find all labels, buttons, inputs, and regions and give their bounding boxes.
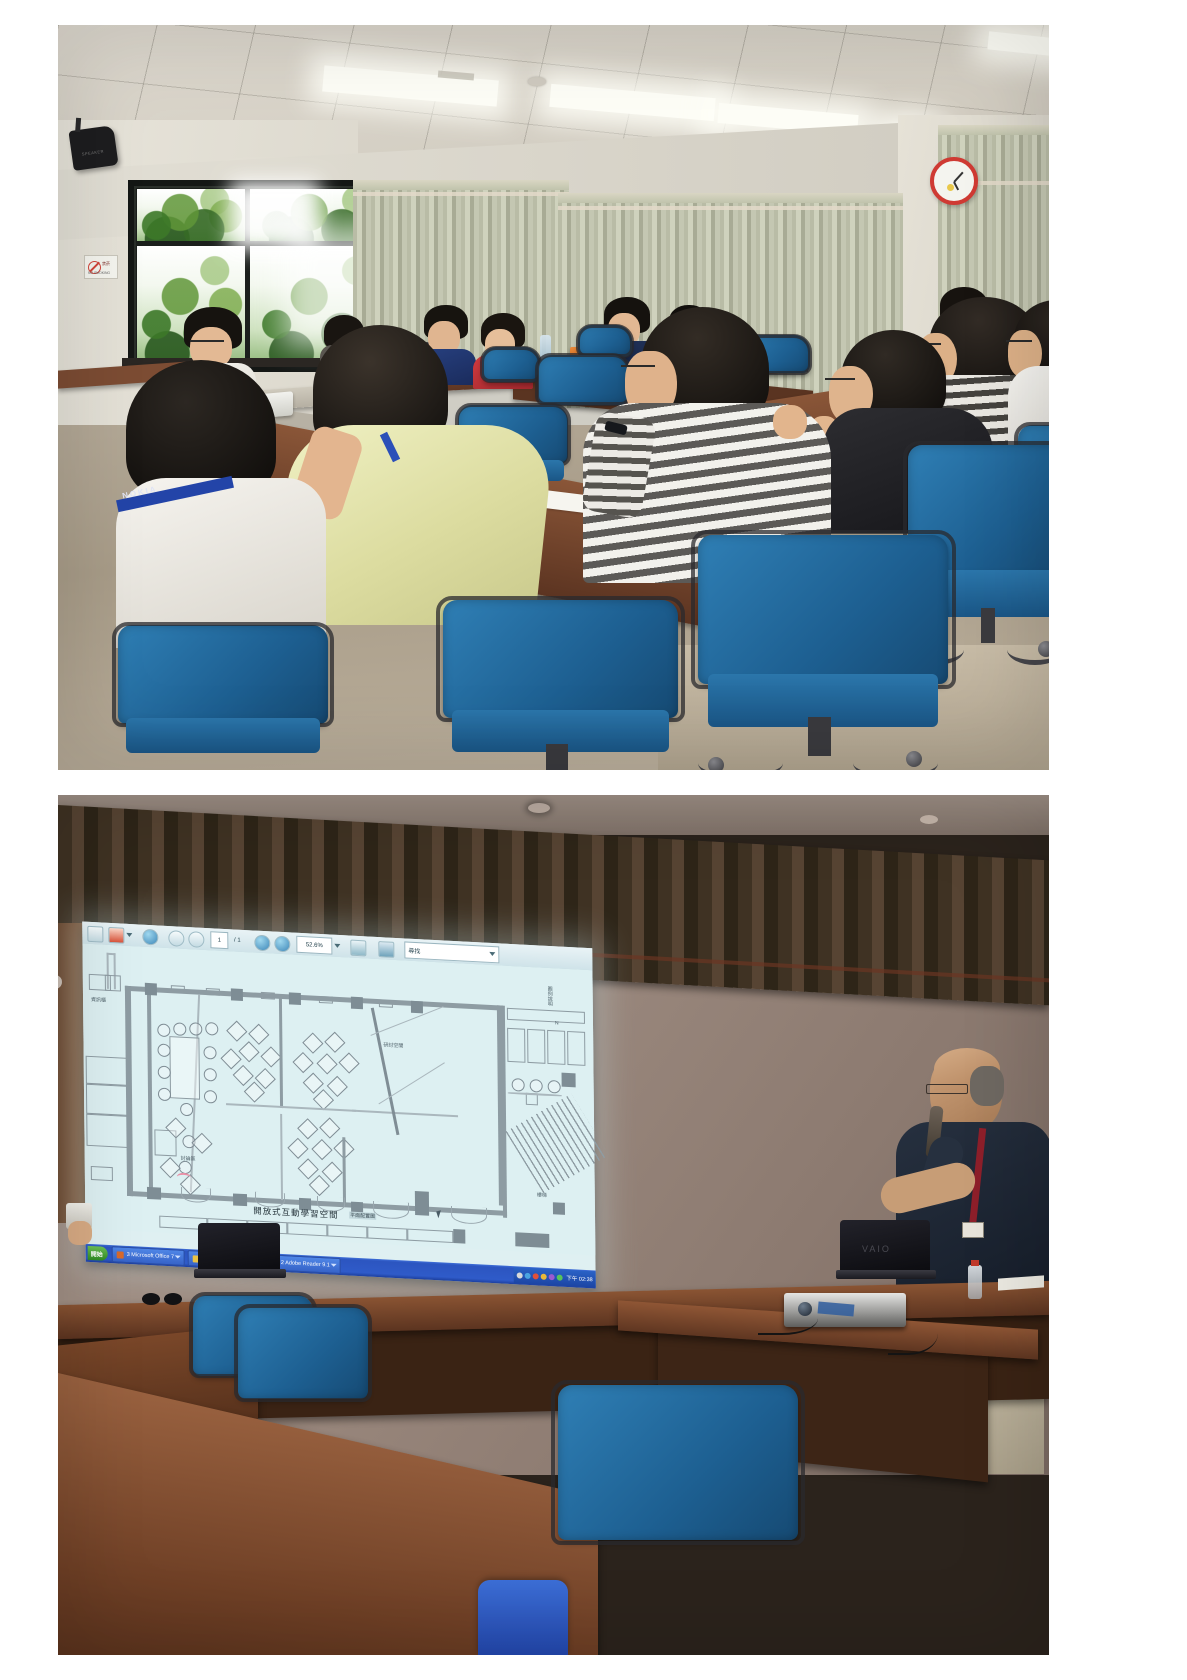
no-smoking-sign: 禁菸 NO SMOKING — [84, 255, 118, 279]
smoke-detector — [528, 77, 546, 86]
taskbar-item-label: 3 Microsoft Office 7 — [127, 1252, 174, 1260]
zoom-level-input[interactable]: 52.6% — [296, 936, 332, 955]
plan-title-note: 平面配置圖 — [349, 1212, 376, 1220]
update-icon[interactable] — [540, 1274, 546, 1280]
next-page-icon[interactable] — [188, 931, 204, 948]
person-foreground-back-of-head: NOKIA — [116, 360, 331, 660]
network-icon[interactable] — [524, 1273, 530, 1279]
hand — [773, 405, 807, 439]
fit-page-icon[interactable] — [350, 940, 366, 957]
name-badge — [962, 1222, 984, 1238]
presenter-with-projected-floorplan-photo: 1 / 1 52.6% 尋找 — [58, 795, 1049, 1655]
fit-width-icon[interactable] — [378, 941, 394, 958]
sign-sub-text: NO SMOKING — [88, 271, 110, 275]
office-chair — [118, 625, 328, 770]
email-icon[interactable] — [108, 927, 124, 944]
shield-icon[interactable] — [532, 1273, 538, 1279]
plan-legend-label: 圖例說明 — [547, 986, 554, 1006]
seminar-room-audience-photo: SPEAKER 禁菸 NO SMOKING — [58, 25, 1049, 770]
speaker-brand-label: SPEAKER — [81, 149, 104, 157]
zoom-in-icon[interactable] — [274, 936, 290, 953]
plan-label: 資訊櫃 — [91, 996, 106, 1004]
sign-main-text: 禁菸 — [102, 261, 110, 267]
eyeglasses — [1006, 340, 1032, 348]
page-number-input[interactable]: 1 — [210, 931, 228, 949]
plan-label: 討論區 — [181, 1155, 196, 1163]
clock-face-dot — [947, 184, 954, 191]
plan-label: 樓梯 — [537, 1191, 547, 1199]
laptop-vaio[interactable]: VAIO — [840, 1220, 930, 1298]
blue-plastic-cap — [478, 1580, 568, 1655]
hair — [970, 1066, 1004, 1106]
sunglasses — [142, 1293, 186, 1305]
laptop-base — [836, 1270, 937, 1279]
find-input[interactable]: 尋找 — [404, 941, 499, 963]
cad-floor-plan: 資訊櫃 研討空間 討論區 樓梯 圖例說明 N 開放式互動學習空間 平面配置圖 — [82, 944, 595, 1256]
office-chair — [443, 600, 678, 770]
taskbar-item-label: 2 Adobe Reader 9.1 — [281, 1260, 330, 1269]
eyeglasses — [926, 1084, 968, 1094]
document-page: SPEAKER 禁菸 NO SMOKING — [0, 0, 1187, 1680]
ceiling-fixture — [920, 815, 938, 824]
ceiling-fixture — [528, 803, 550, 813]
office-chair — [558, 1385, 798, 1635]
mouse-cursor-icon — [436, 1209, 446, 1218]
volume-icon[interactable] — [556, 1274, 562, 1280]
plan-label: 研討空間 — [383, 1041, 403, 1049]
laptop-base — [194, 1269, 286, 1278]
office-chair — [698, 535, 948, 770]
start-button[interactable]: 開始 — [88, 1246, 108, 1261]
chevron-down-icon[interactable] — [126, 933, 132, 937]
laptop-brand-label: VAIO — [862, 1244, 891, 1254]
north-mark: N — [555, 1020, 559, 1026]
wall-speaker: SPEAKER — [68, 125, 118, 171]
select-tool-icon[interactable] — [142, 929, 158, 946]
eyeglasses — [190, 340, 224, 348]
laptop-lid — [198, 1223, 280, 1271]
chevron-down-icon[interactable] — [334, 944, 340, 948]
laptop-thinkpad[interactable] — [198, 1223, 280, 1295]
hand-holding-cup — [66, 1203, 96, 1243]
taskbar-item[interactable]: 3 Microsoft Office 7 — [112, 1246, 185, 1266]
show-desktop-icon[interactable] — [516, 1272, 522, 1278]
ime-icon[interactable] — [548, 1274, 554, 1280]
wall-clock — [930, 157, 978, 205]
zoom-out-icon[interactable] — [254, 935, 270, 952]
water-bottle — [968, 1265, 982, 1299]
page-total-label: / 1 — [228, 932, 246, 948]
hand — [68, 1221, 92, 1245]
eyeglasses — [621, 365, 655, 373]
previous-page-icon[interactable] — [168, 930, 184, 947]
printer-icon[interactable] — [87, 926, 103, 943]
system-tray[interactable]: 下午 02:38 — [513, 1267, 595, 1287]
window-pane — [137, 189, 245, 241]
projection-screen: 1 / 1 52.6% 尋找 — [82, 922, 596, 1289]
projector-vent — [818, 1301, 855, 1316]
taskbar-clock: 下午 02:38 — [566, 1274, 592, 1283]
